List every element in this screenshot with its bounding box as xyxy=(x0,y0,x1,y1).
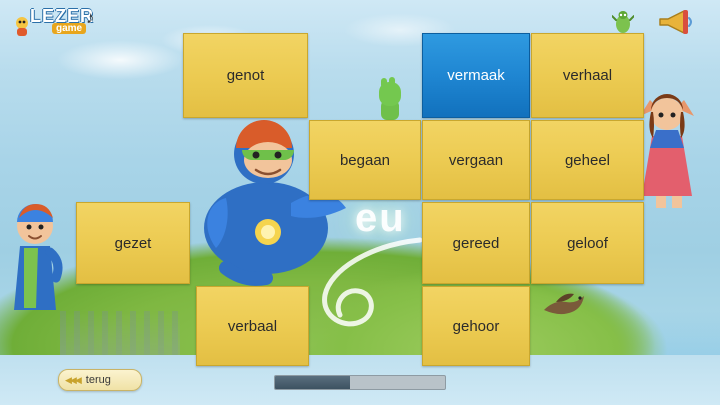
back-arrows-icon: ◀◀◀ xyxy=(65,375,80,386)
word-tile[interactable]: verhaal xyxy=(531,33,644,118)
back-button[interactable]: ◀◀◀ terug xyxy=(58,369,142,391)
word-tile[interactable]: gereed xyxy=(422,202,530,284)
word-tile[interactable]: geheel xyxy=(531,120,644,200)
music-note-icon[interactable]: ♪ xyxy=(86,8,95,28)
logo-badge: game xyxy=(52,23,86,34)
bug-icon[interactable] xyxy=(612,10,634,34)
progress-bar xyxy=(274,375,446,390)
word-tile[interactable]: begaan xyxy=(309,120,421,200)
word-tile[interactable]: genot xyxy=(183,33,308,118)
logo-mascot-icon xyxy=(12,16,32,38)
sea-backdrop xyxy=(0,311,720,371)
word-tile-label: geloof xyxy=(567,235,608,252)
word-tile-label: begaan xyxy=(340,152,390,169)
word-tile[interactable]: gehoor xyxy=(422,286,530,366)
background-word-eu: eu xyxy=(355,196,406,241)
word-tile[interactable]: vergaan xyxy=(422,120,530,200)
word-tile-label: vermaak xyxy=(447,67,505,84)
word-tile-label: geheel xyxy=(565,152,610,169)
city-silhouette xyxy=(60,311,180,359)
word-tile-label: vergaan xyxy=(449,152,503,169)
word-tile-label: gezet xyxy=(115,235,152,252)
progress-bar-fill xyxy=(275,376,350,389)
back-button-label: terug xyxy=(86,374,111,386)
word-tile[interactable]: verbaal xyxy=(196,286,309,366)
blue-character xyxy=(6,196,66,326)
game-stage: eu xyxy=(0,0,720,405)
megaphone-icon[interactable] xyxy=(656,8,694,36)
bird-icon xyxy=(540,290,588,322)
word-tile-label: gereed xyxy=(453,235,500,252)
word-tile[interactable]: gezet xyxy=(76,202,190,284)
word-tile-label: verbaal xyxy=(228,318,277,335)
fist-icon xyxy=(372,74,408,122)
word-tile-label: genot xyxy=(227,67,265,84)
word-tile[interactable]: geloof xyxy=(531,202,644,284)
word-tile-label: verhaal xyxy=(563,67,612,84)
word-tile-selected[interactable]: vermaak xyxy=(422,33,530,118)
word-tile-label: gehoor xyxy=(453,318,500,335)
